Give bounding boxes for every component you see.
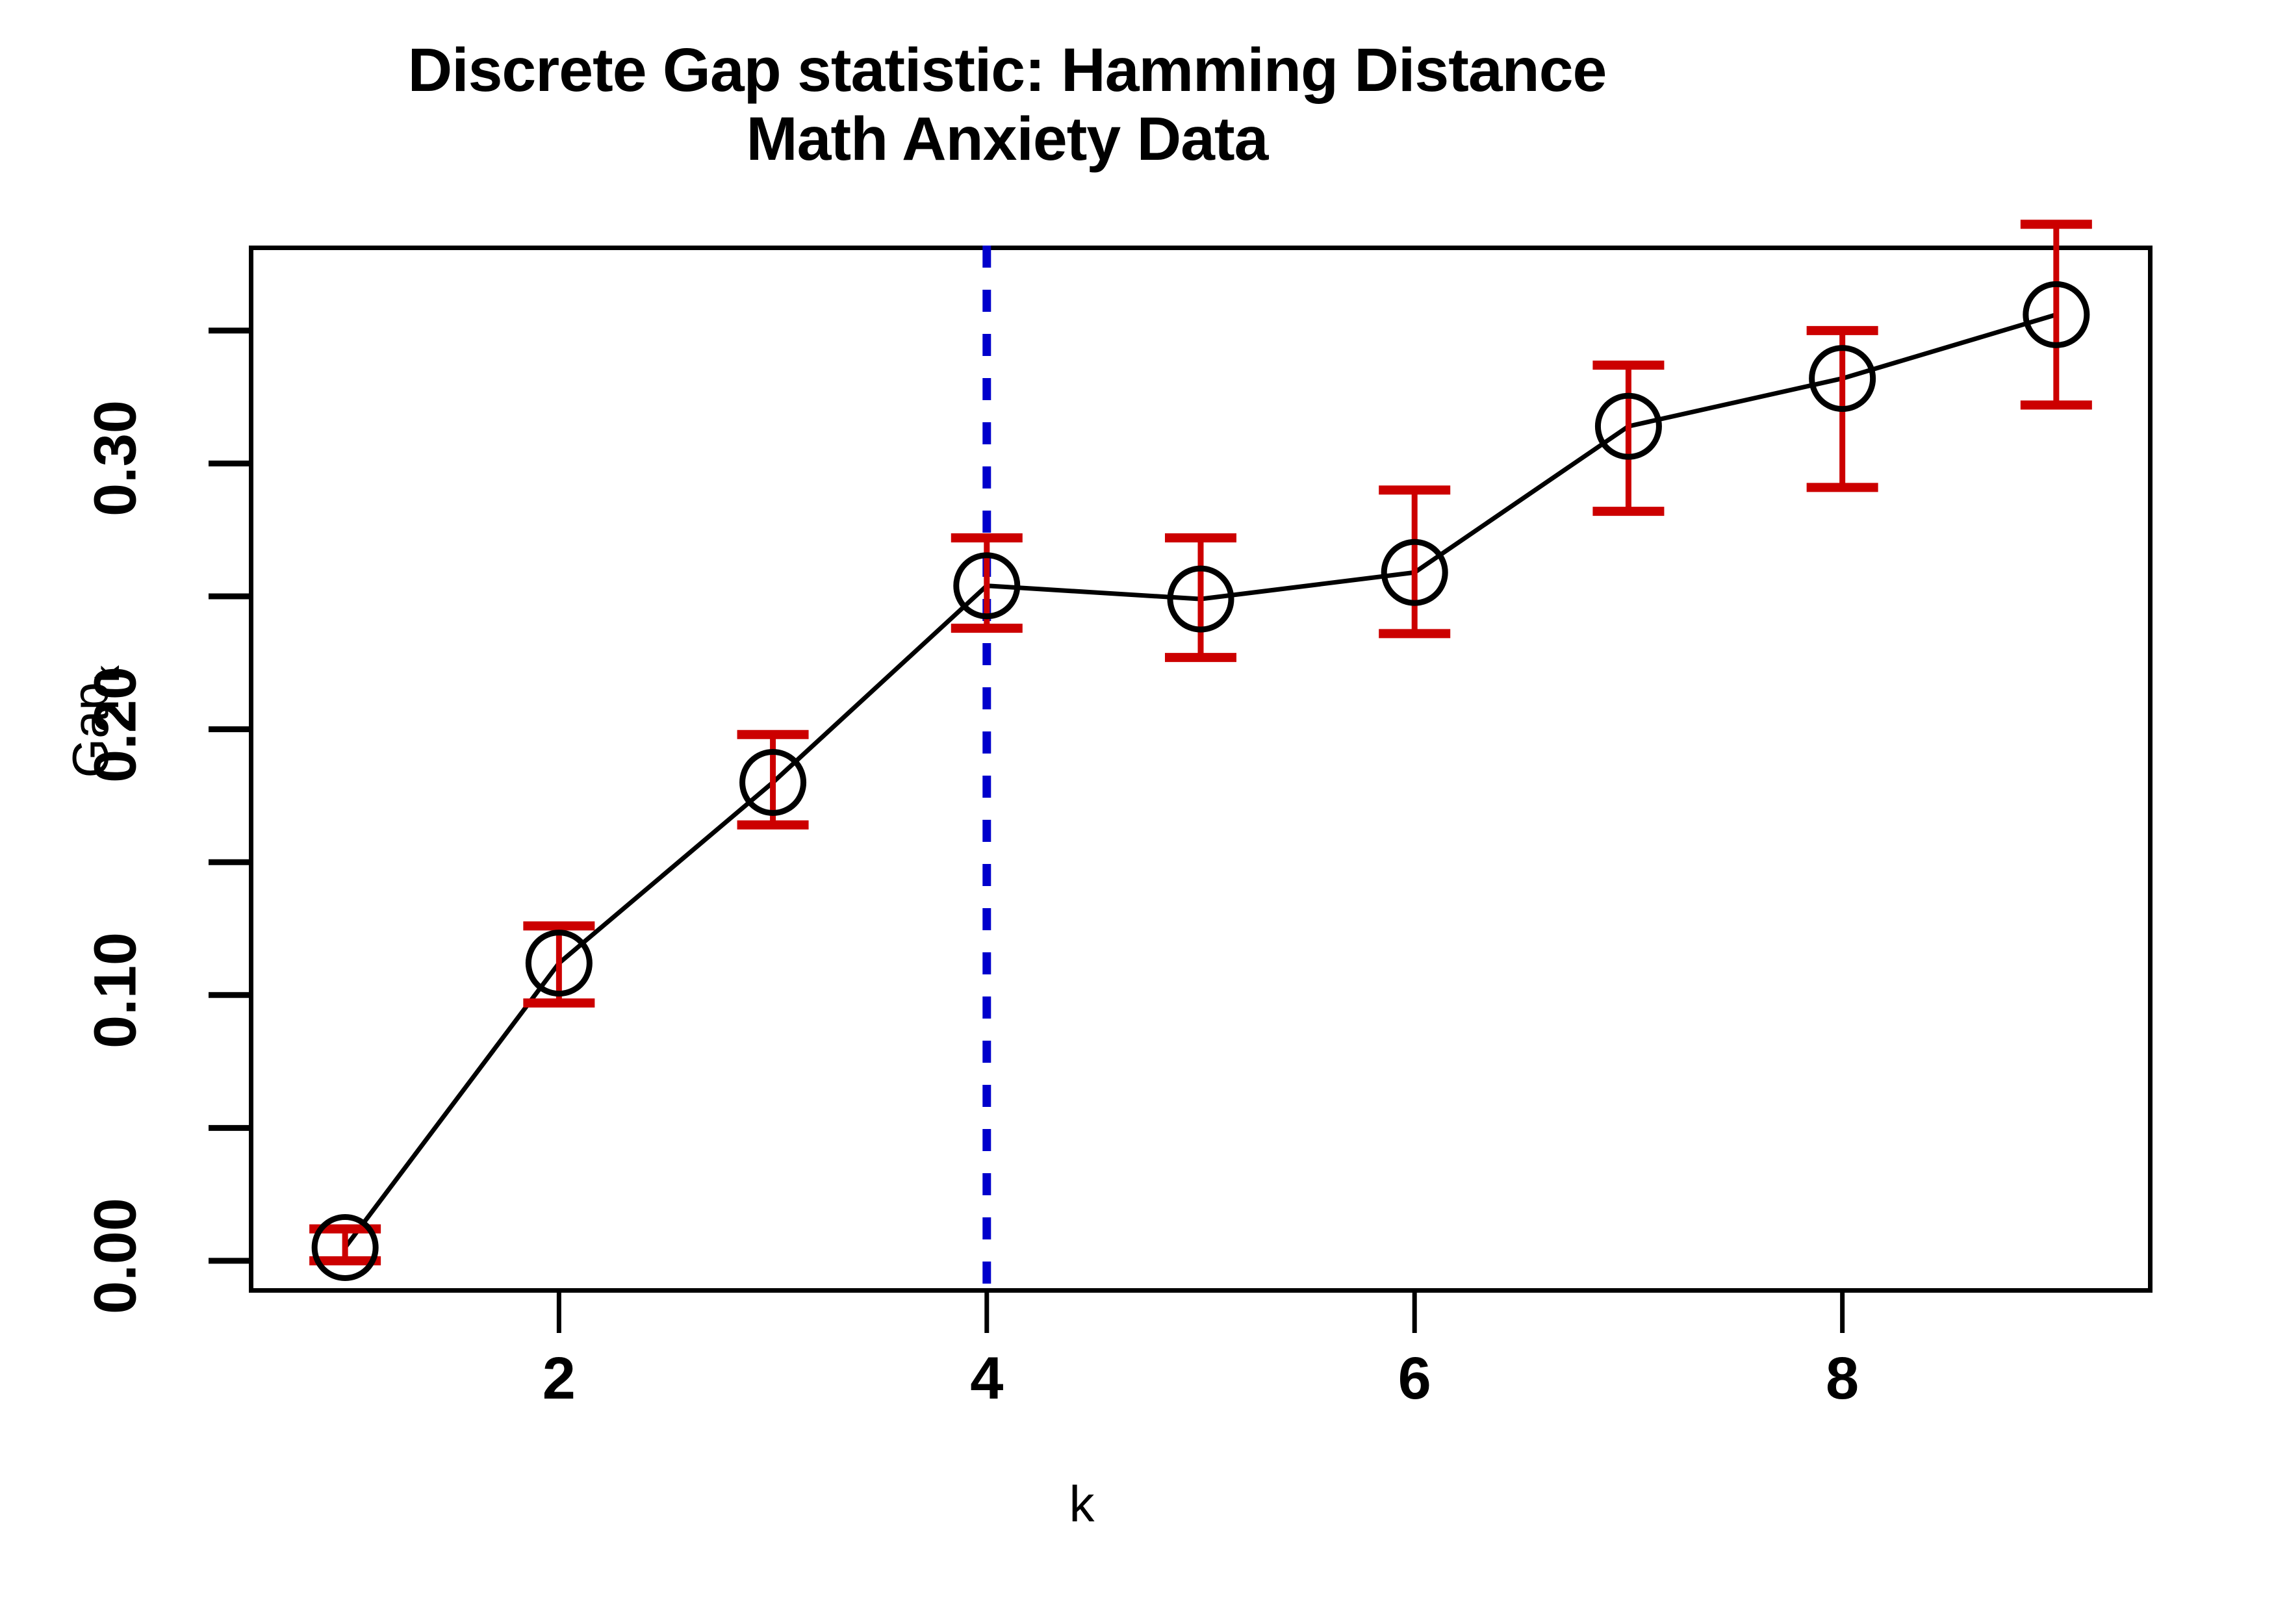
y-tick-marks — [209, 331, 249, 1261]
chart-root: Discrete Gap statistic: Hamming Distance… — [0, 0, 2274, 1624]
y-tick-label: 0.30 — [82, 361, 150, 556]
y-tick-label: 0.10 — [82, 893, 150, 1087]
x-tick-label: 2 — [461, 1345, 656, 1413]
y-tick-label: 0.20 — [82, 627, 150, 822]
x-tick-marks — [559, 1293, 1842, 1333]
x-tick-label: 8 — [1745, 1345, 1940, 1413]
x-tick-label: 4 — [889, 1345, 1084, 1413]
data-line — [345, 314, 2056, 1247]
y-tick-label: 0.00 — [82, 1158, 150, 1353]
x-tick-label: 6 — [1317, 1345, 1512, 1413]
data-points — [314, 284, 2087, 1278]
error-bars — [309, 224, 2092, 1261]
